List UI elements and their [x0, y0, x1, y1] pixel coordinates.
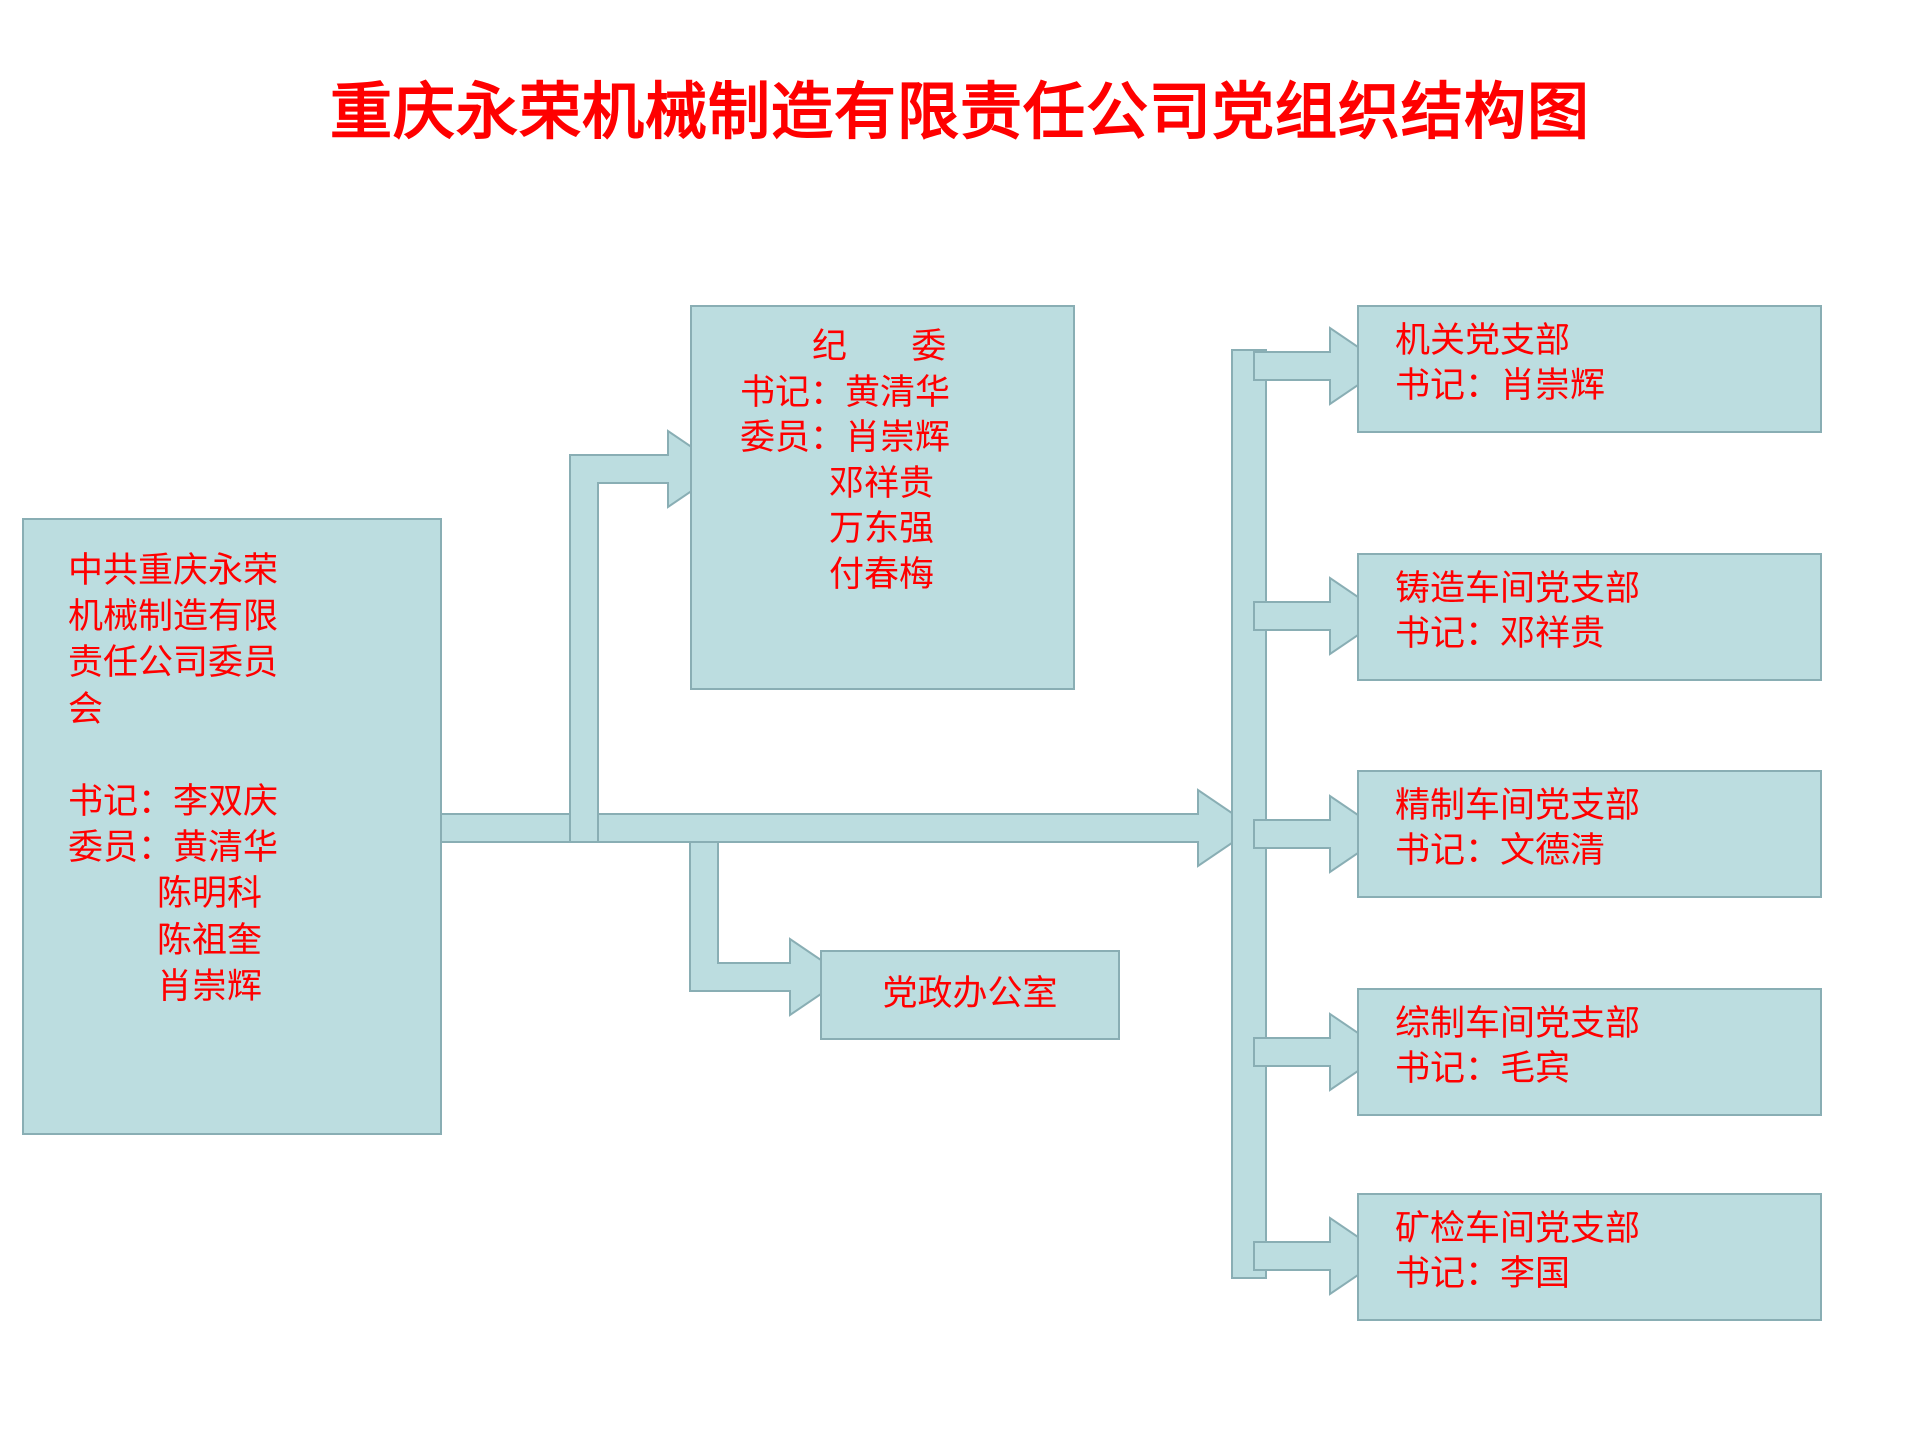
branch-title: 机关党支部 [1395, 319, 1820, 364]
branch-title: 矿检车间党支部 [1395, 1207, 1820, 1252]
party-government-office-box[interactable]: 党政办公室 [820, 950, 1120, 1040]
refining-party-branch-box[interactable]: 精制车间党支部 书记：文德清 [1357, 770, 1822, 898]
committee-line-blank [68, 733, 440, 779]
committee-line-2: 机械制造有限 [68, 594, 440, 640]
discipline-heading: 纪 委 [692, 325, 1073, 371]
party-committee-box[interactable]: 中共重庆永荣 机械制造有限 责任公司委员 会 书记：李双庆 委员：黄清华 陈明科… [22, 518, 442, 1135]
branch-title: 精制车间党支部 [1395, 784, 1820, 829]
committee-secretary: 书记：李双庆 [68, 779, 440, 825]
branch-secretary: 书记：肖崇辉 [1395, 364, 1820, 409]
branch-secretary: 书记：毛宾 [1395, 1047, 1820, 1092]
organ-party-branch-box[interactable]: 机关党支部 书记：肖崇辉 [1357, 305, 1822, 433]
casting-party-branch-box[interactable]: 铸造车间党支部 书记：邓祥贵 [1357, 553, 1822, 681]
arrow-committee-to-spine [440, 790, 1254, 866]
committee-line-4: 会 [68, 687, 440, 733]
committee-member-3: 陈祖奎 [68, 918, 440, 964]
branch-secretary: 书记：李国 [1395, 1252, 1820, 1297]
committee-member-4: 肖崇辉 [68, 964, 440, 1010]
discipline-member-1: 委员：肖崇辉 [692, 416, 1073, 462]
org-chart-canvas: 重庆永荣机械制造有限责任公司党组织结构图 中共重庆永荣 机械制造有限 责任公司委… [0, 0, 1920, 1440]
general-party-branch-box[interactable]: 综制车间党支部 书记：毛宾 [1357, 988, 1822, 1116]
discipline-secretary: 书记：黄清华 [692, 371, 1073, 417]
committee-line-3: 责任公司委员 [68, 640, 440, 686]
branch-secretary: 书记：文德清 [1395, 829, 1820, 874]
discipline-member-3: 万东强 [692, 507, 1073, 553]
branch-secretary: 书记：邓祥贵 [1395, 612, 1820, 657]
committee-member-1: 委员：黄清华 [68, 825, 440, 871]
discipline-member-2: 邓祥贵 [692, 462, 1073, 508]
spine-right [1232, 350, 1266, 1278]
page-title: 重庆永荣机械制造有限责任公司党组织结构图 [0, 78, 1920, 146]
branch-title: 综制车间党支部 [1395, 1002, 1820, 1047]
branch-title: 铸造车间党支部 [1395, 567, 1820, 612]
committee-member-2: 陈明科 [68, 871, 440, 917]
office-label: 党政办公室 [882, 972, 1057, 1018]
discipline-committee-box[interactable]: 纪 委 书记：黄清华 委员：肖崇辉 邓祥贵 万东强 付春梅 [690, 305, 1075, 690]
discipline-member-4: 付春梅 [692, 553, 1073, 599]
committee-line-1: 中共重庆永荣 [68, 548, 440, 594]
mining-party-branch-box[interactable]: 矿检车间党支部 书记：李国 [1357, 1193, 1822, 1321]
